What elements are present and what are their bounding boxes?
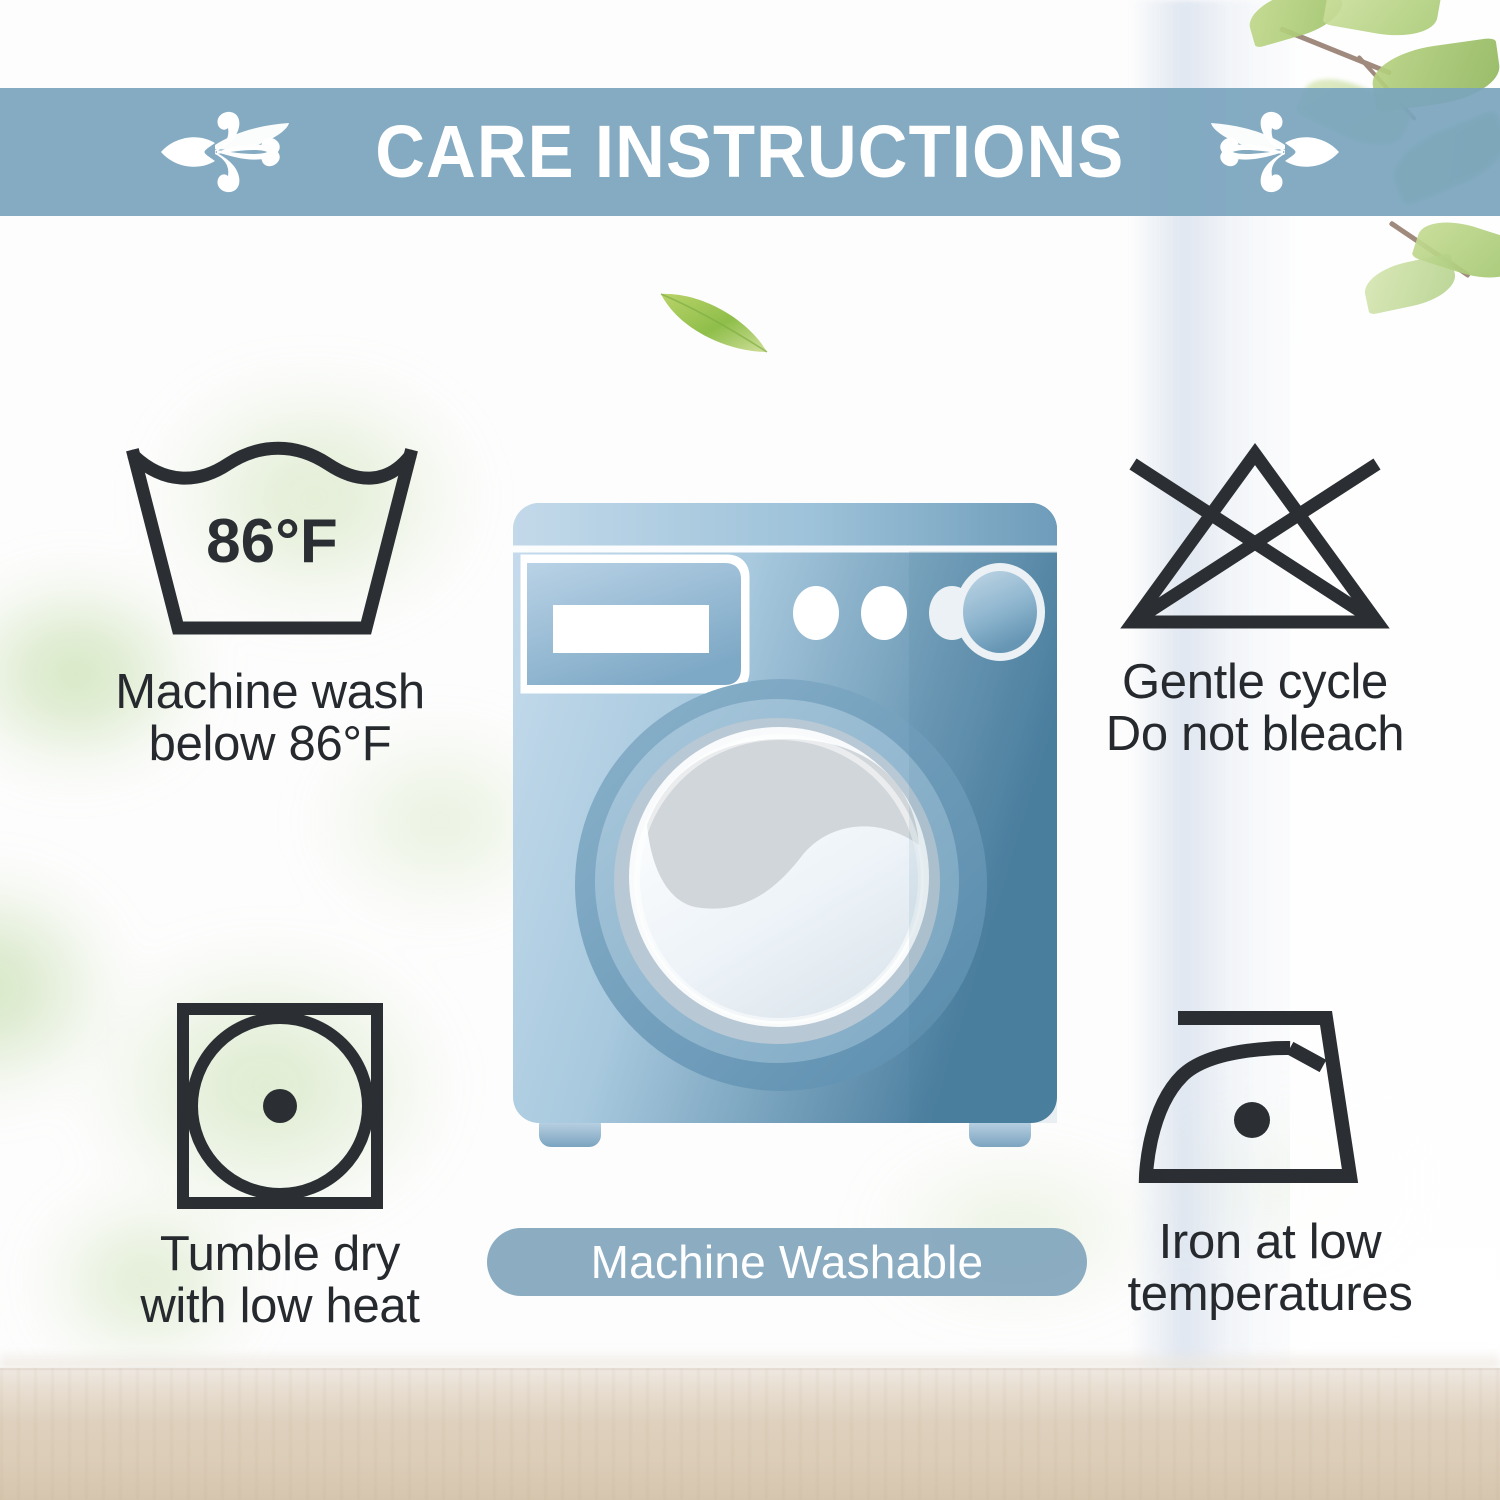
care-item-machine-wash: 86°F Machine wash below 86°F [60, 440, 480, 771]
iron-icon [1130, 1000, 1410, 1200]
leaf-icon [1323, 0, 1442, 43]
wash-basin-icon: 86°F [120, 440, 420, 650]
detergent-drawer-slot [553, 605, 709, 653]
tumble-dry-square-circle-icon [174, 1000, 386, 1212]
page-title: CARE INSTRUCTIONS [375, 115, 1124, 189]
leaf-icon [1360, 253, 1459, 315]
wash-temperature-value: 86°F [206, 507, 338, 576]
care-item-label: Iron at low temperatures [1127, 1216, 1412, 1321]
header-banner: CARE INSTRUCTIONS [0, 88, 1500, 216]
fleur-de-lis-icon [159, 109, 309, 195]
care-item-tumble-dry: Tumble dry with low heat [70, 1000, 490, 1333]
indicator-light [793, 586, 839, 640]
indicator-light [861, 586, 907, 640]
care-item-iron: Iron at low temperatures [1060, 1000, 1480, 1321]
care-instructions-infographic: CARE INSTRUCTIONS 86°F Machine wash belo… [0, 0, 1500, 1500]
floating-leaf-icon [655, 282, 775, 360]
care-item-label: Machine wash below 86°F [115, 666, 425, 771]
crossed-triangle-icon [1115, 440, 1395, 640]
washing-machine-illustration [505, 485, 1065, 1185]
machine-top-lid [513, 503, 1057, 547]
wood-table-edge-highlight [0, 1350, 1500, 1368]
care-item-label: Gentle cycle Do not bleach [1106, 656, 1404, 761]
fleur-de-lis-icon [1191, 109, 1341, 195]
care-item-do-not-bleach: Gentle cycle Do not bleach [1045, 440, 1465, 761]
wood-table-surface [0, 1368, 1500, 1500]
machine-washable-badge: Machine Washable [487, 1228, 1087, 1296]
machine-washable-badge-label: Machine Washable [591, 1239, 984, 1285]
care-item-label: Tumble dry with low heat [140, 1228, 419, 1333]
